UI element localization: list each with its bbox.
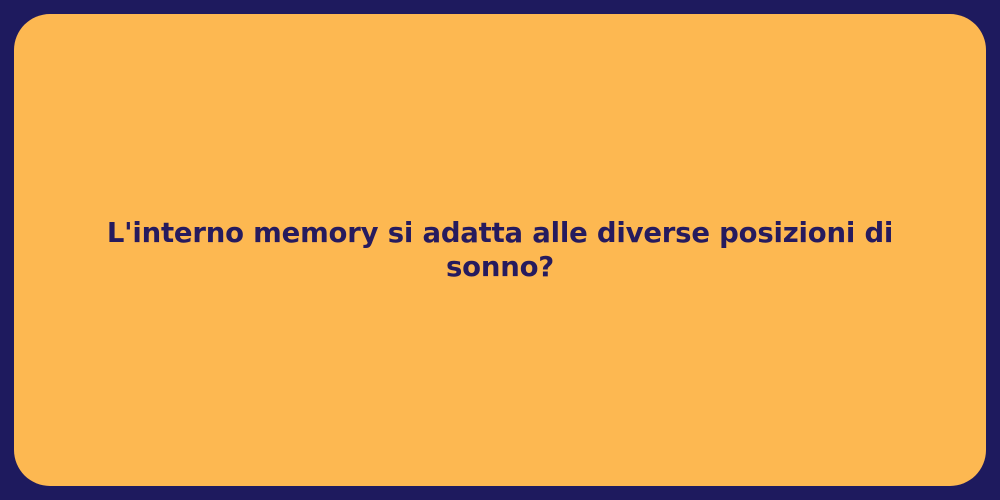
headline-question: L'interno memory si adatta alle diverse … — [60, 216, 940, 285]
card-panel: L'interno memory si adatta alle diverse … — [14, 14, 986, 486]
card-frame: L'interno memory si adatta alle diverse … — [0, 0, 1000, 500]
